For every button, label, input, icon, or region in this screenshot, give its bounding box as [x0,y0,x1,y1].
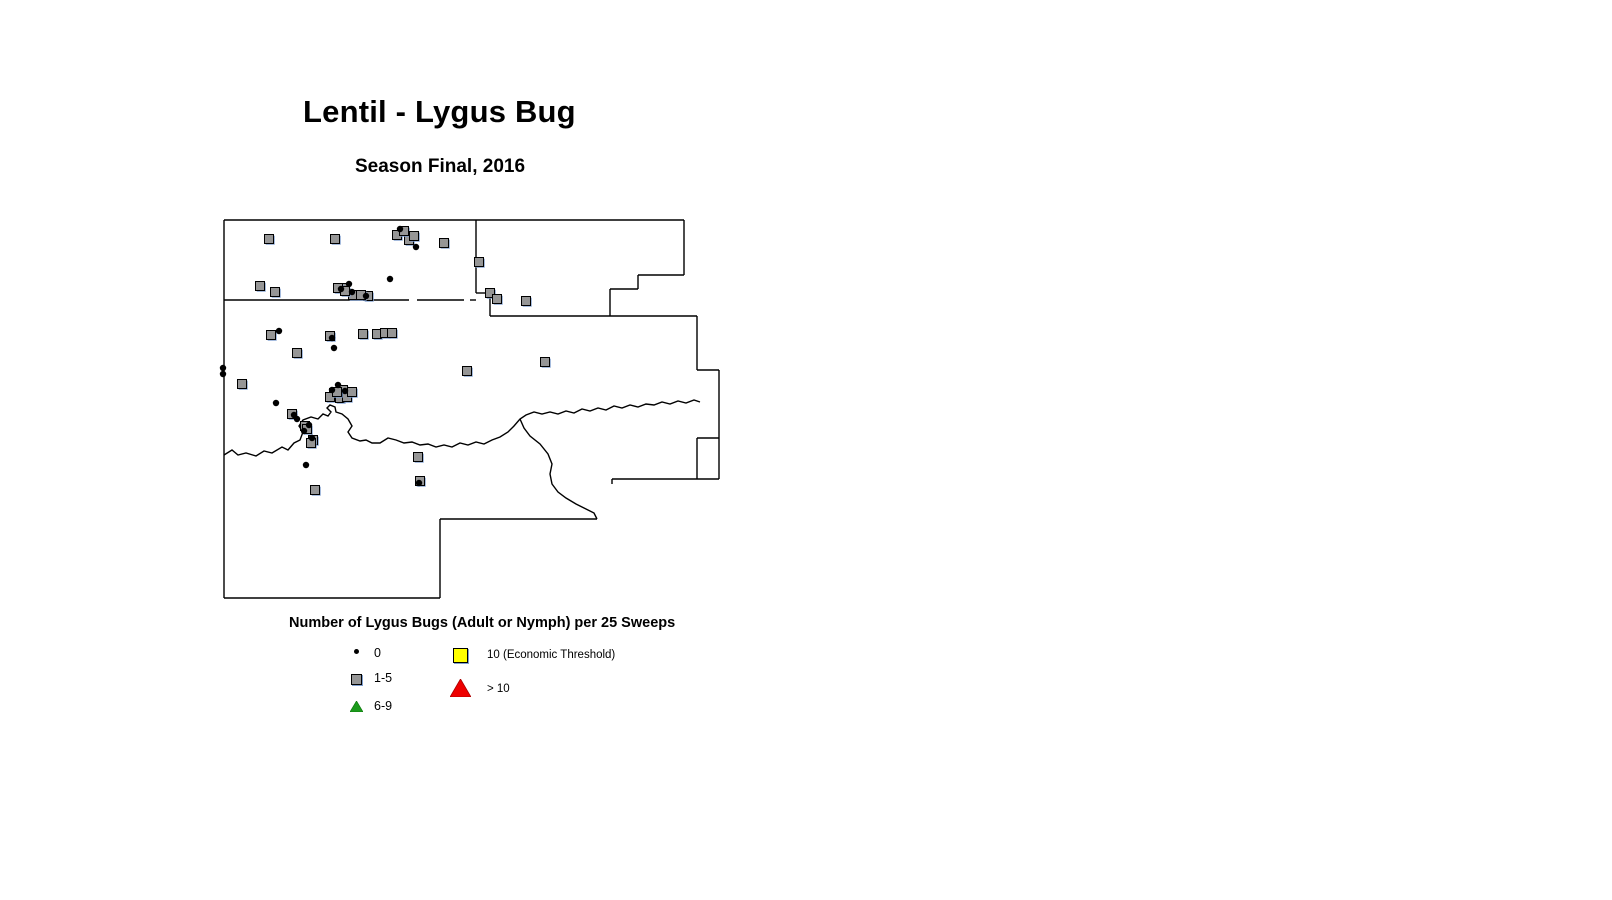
county-map[interactable] [0,0,1612,900]
legend-symbol-dot [354,649,359,654]
map-figure-page: Lentil - Lygus Bug Season Final, 2016 [0,0,1612,900]
marker-dot-zero[interactable] [335,382,341,388]
marker-dot-zero[interactable] [387,276,393,282]
marker-square-1-5[interactable] [414,453,423,462]
marker-square-1-5[interactable] [267,331,276,340]
marker-dot-zero[interactable] [349,289,355,295]
marker-dot-zero[interactable] [346,281,352,287]
marker-square-1-5[interactable] [238,380,247,389]
marker-dot-zero[interactable] [329,387,335,393]
marker-dot-zero[interactable] [301,428,307,434]
marker-square-1-5[interactable] [388,329,397,338]
marker-square-1-5[interactable] [359,330,368,339]
marker-square-1-5[interactable] [493,295,502,304]
marker-square-1-5[interactable] [522,297,531,306]
marker-square-1-5[interactable] [265,235,274,244]
marker-dot-zero[interactable] [342,388,348,394]
legend-label-1-5: 1-5 [374,671,392,685]
marker-dot-zero[interactable] [363,293,369,299]
county-boundaries [224,220,719,598]
marker-dot-zero[interactable] [273,400,279,406]
legend-label-6-9: 6-9 [374,699,392,713]
marker-square-1-5[interactable] [348,388,357,397]
marker-group-squares [238,227,551,496]
legend-label-gt-10: > 10 [487,683,510,695]
legend-symbol-gray-square [351,674,362,685]
marker-dot-zero[interactable] [276,328,282,334]
marker-square-1-5[interactable] [271,288,280,297]
marker-dot-zero[interactable] [306,422,312,428]
marker-square-1-5[interactable] [410,232,419,241]
marker-dot-zero[interactable] [331,345,337,351]
marker-dot-zero[interactable] [416,480,422,486]
marker-dot-zero[interactable] [413,244,419,250]
legend-label-0: 0 [374,646,381,660]
marker-dot-zero[interactable] [220,371,226,377]
marker-dot-zero[interactable] [329,335,335,341]
marker-dot-zero[interactable] [397,226,403,232]
marker-square-1-5[interactable] [256,282,265,291]
legend-symbol-yellow-square [453,648,468,663]
marker-dot-zero[interactable] [338,286,344,292]
legend-label-threshold: 10 (Economic Threshold) [487,649,615,661]
marker-square-1-5[interactable] [293,349,302,358]
marker-square-1-5[interactable] [331,235,340,244]
marker-square-1-5[interactable] [463,367,472,376]
marker-square-1-5[interactable] [311,486,320,495]
marker-dot-zero[interactable] [220,365,226,371]
map-svg [0,0,1612,900]
legend-symbol-red-triangle [450,679,471,697]
marker-square-1-5[interactable] [541,358,550,367]
legend-symbol-green-triangle [350,701,363,712]
marker-group-dots [220,226,422,486]
marker-square-1-5[interactable] [440,239,449,248]
marker-dot-zero[interactable] [303,462,309,468]
marker-dot-zero[interactable] [291,412,297,418]
marker-square-1-5[interactable] [475,258,484,267]
legend-caption: Number of Lygus Bugs (Adult or Nymph) pe… [289,615,675,631]
marker-dot-zero[interactable] [309,435,315,441]
